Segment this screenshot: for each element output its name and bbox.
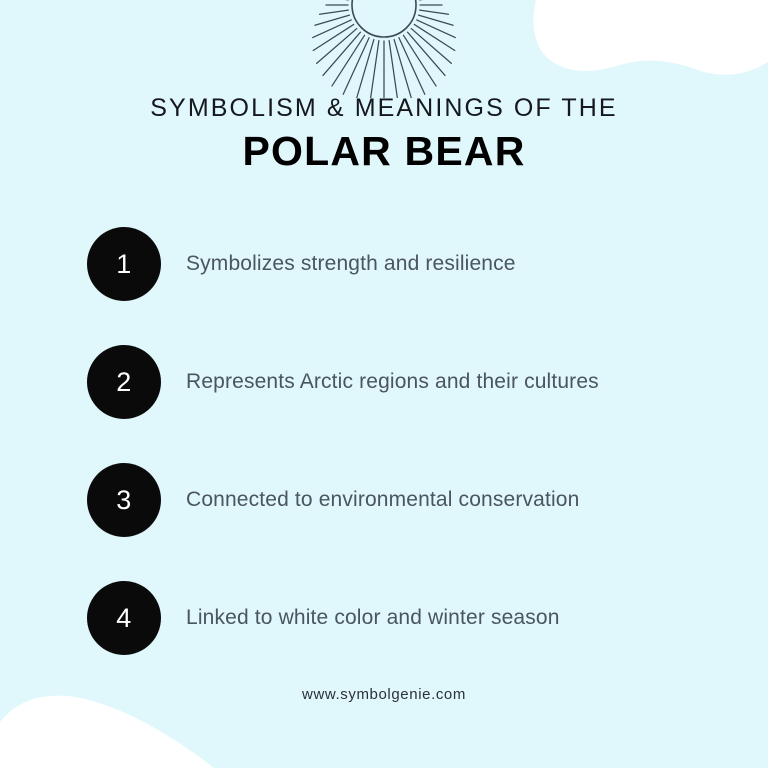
list-item-label: Symbolizes strength and resilience [186, 252, 516, 276]
meanings-list: 1 Symbolizes strength and resilience 2 R… [87, 227, 727, 699]
list-item-label: Linked to white color and winter season [186, 606, 560, 630]
sunburst-icon [284, 0, 484, 98]
list-item-label: Represents Arctic regions and their cult… [186, 370, 599, 394]
footer-website: www.symbolgenie.com [0, 686, 768, 703]
list-item-label: Connected to environmental conservation [186, 488, 579, 512]
infographic-poster: SYMBOLISM & MEANINGS OF THE POLAR BEAR 1… [0, 0, 768, 768]
list-item: 4 Linked to white color and winter seaso… [87, 581, 727, 655]
title-block: SYMBOLISM & MEANINGS OF THE POLAR BEAR [0, 96, 768, 173]
list-item: 1 Symbolizes strength and resilience [87, 227, 727, 301]
list-item-number-badge: 4 [87, 581, 161, 655]
poster-subtitle: SYMBOLISM & MEANINGS OF THE [0, 96, 768, 121]
list-item-number-badge: 1 [87, 227, 161, 301]
list-item-number-badge: 3 [87, 463, 161, 537]
list-item: 3 Connected to environmental conservatio… [87, 463, 727, 537]
poster-title: POLAR BEAR [0, 130, 768, 173]
list-item: 2 Represents Arctic regions and their cu… [87, 345, 727, 419]
list-item-number-badge: 2 [87, 345, 161, 419]
